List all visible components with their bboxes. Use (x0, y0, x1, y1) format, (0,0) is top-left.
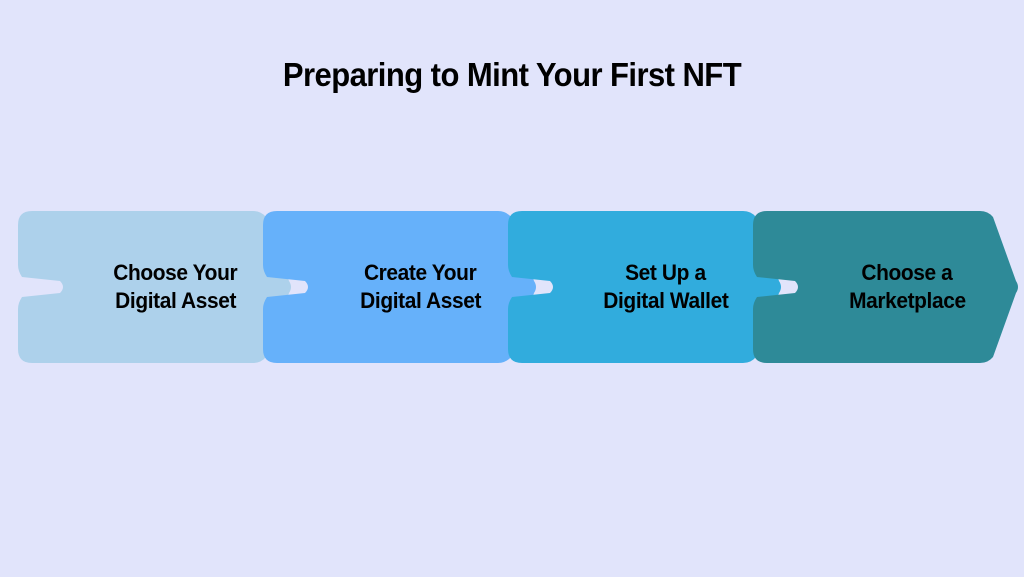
flow-step-3[interactable]: Set Up a Digital Wallet (508, 211, 783, 363)
chevron-shape-3 (508, 211, 783, 363)
process-flow-diagram: Choose Your Digital Asset Create Your Di… (0, 211, 1024, 363)
infographic-canvas: Preparing to Mint Your First NFT Choose … (0, 0, 1024, 577)
flow-step-1[interactable]: Choose Your Digital Asset (18, 211, 293, 363)
page-title: Preparing to Mint Your First NFT (31, 55, 994, 95)
chevron-shape-2 (263, 211, 538, 363)
chevron-shape-4 (753, 211, 1020, 363)
flow-step-4[interactable]: Choose a Marketplace (753, 211, 1020, 363)
chevron-shape-1 (18, 211, 293, 363)
flow-step-2[interactable]: Create Your Digital Asset (263, 211, 538, 363)
